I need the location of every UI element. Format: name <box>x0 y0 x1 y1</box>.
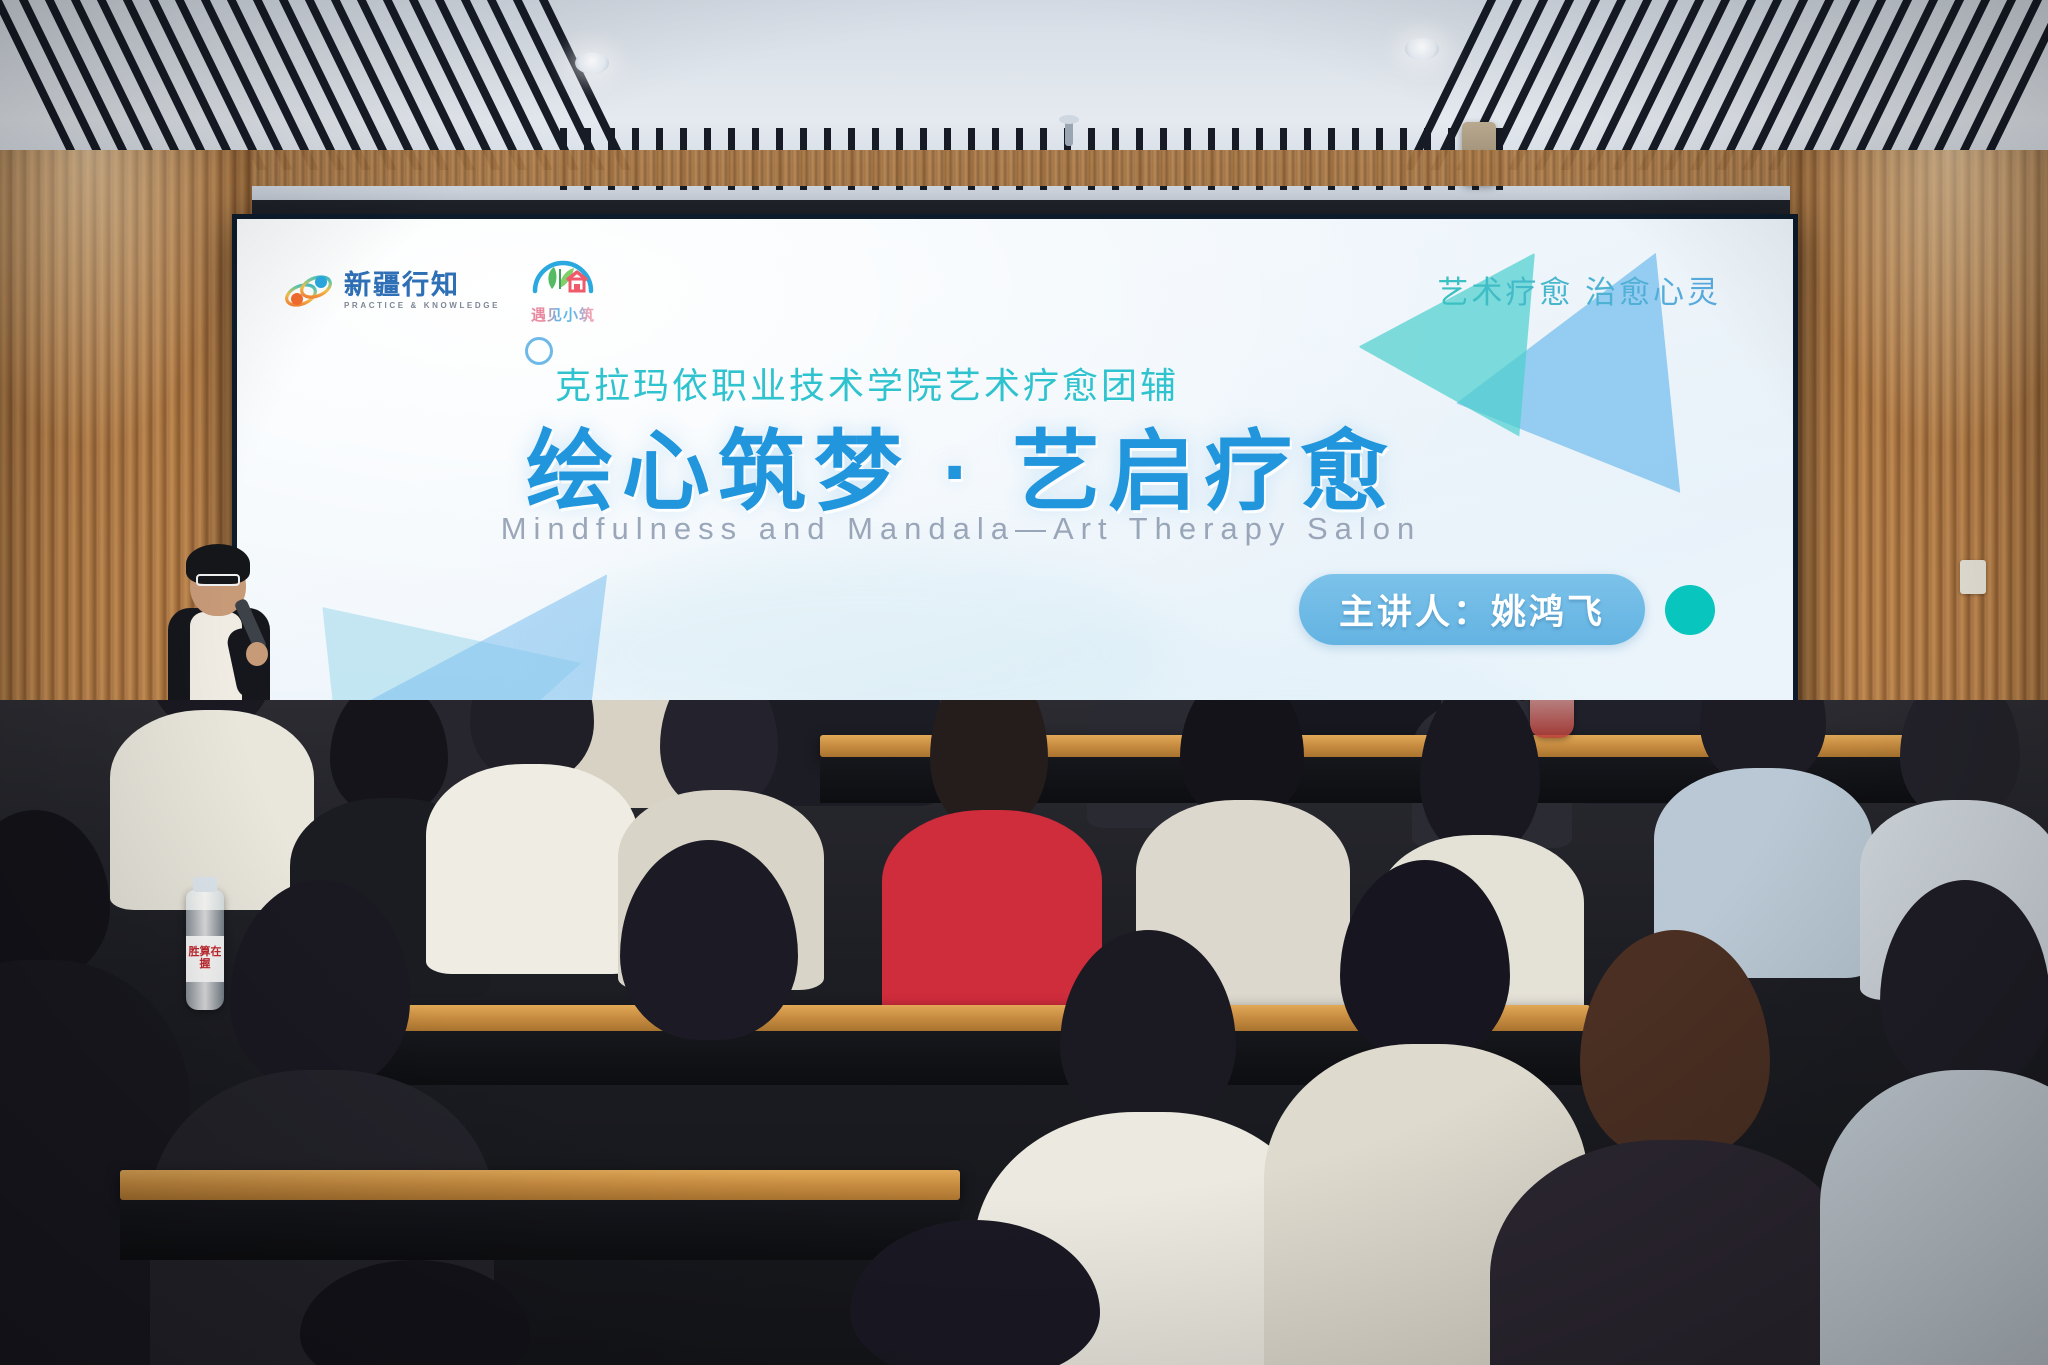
slide-title-en: Mindfulness and Mandala—Art Therapy Salo… <box>311 511 1611 547</box>
wall-top-trim <box>0 150 2048 186</box>
slide-title-cn: 绘心筑梦 · 艺启疗愈 <box>311 401 1611 528</box>
slide-speaker-row: 主讲人：姚鸿飞 <box>1299 574 1715 645</box>
desk-row-front <box>120 1170 960 1200</box>
photo-scene: 新疆行知 PRACTICE & KNOWLEDGE 遇见小筑 <box>0 0 2048 1365</box>
wall-light-switch[interactable] <box>1960 560 1986 594</box>
bottle-label: 胜算在握 <box>186 936 224 982</box>
drink-cup-with-straw <box>1530 700 1574 738</box>
ceiling-baffle-left <box>0 0 636 170</box>
eyeglasses-icon <box>196 574 240 586</box>
water-bottle: 胜算在握 <box>186 890 224 1010</box>
ceiling-downlight <box>1405 38 1439 60</box>
speaker-badge: 主讲人：姚鸿飞 <box>1299 574 1645 645</box>
bottle-cap <box>193 877 217 892</box>
audience-area: 胜算在握 <box>0 700 2048 1365</box>
ceiling-downlight <box>575 52 609 74</box>
torso <box>426 764 638 974</box>
accent-dot-icon <box>1665 585 1715 635</box>
torso <box>882 810 1102 1020</box>
desk-front-panel <box>120 1200 960 1260</box>
presenter-hand <box>246 642 268 666</box>
decorative-ring-icon <box>525 337 553 365</box>
ceiling-sprinkler <box>1065 120 1073 146</box>
head <box>1420 700 1540 855</box>
